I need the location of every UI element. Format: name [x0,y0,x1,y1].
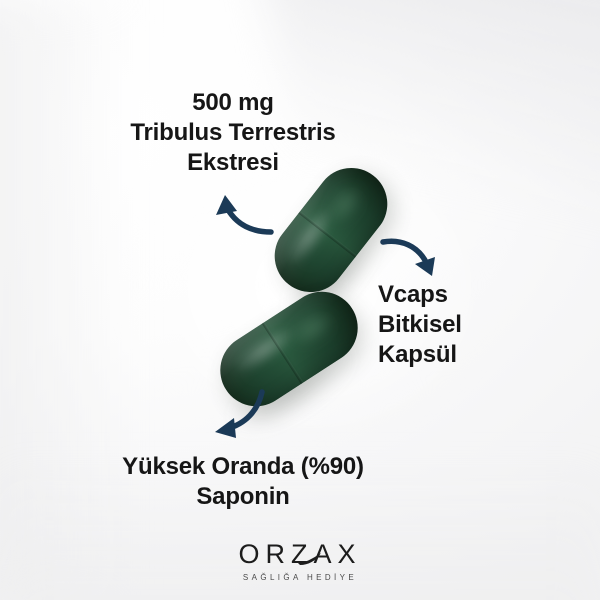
product-infographic: 500 mg Tribulus Terrestris Ekstresi Vcap… [0,0,600,600]
brand-logo: ORZAX SAĞLIĞA HEDİYE [0,541,600,582]
brand-tagline: SAĞLIĞA HEDİYE [0,574,600,582]
callout-top-text: 500 mg Tribulus Terrestris Ekstresi [83,88,383,179]
curved-arrow-down-left-icon [196,384,272,444]
curved-arrow-down-right-icon [378,226,456,286]
leaf-swoosh-icon [297,552,323,566]
callout-bottom-text: Yüksek Oranda (%90) Saponin [78,452,408,512]
callout-right-text: Vcaps Bitkisel Kapsül [378,280,548,371]
curved-arrow-up-left-icon [198,184,278,240]
